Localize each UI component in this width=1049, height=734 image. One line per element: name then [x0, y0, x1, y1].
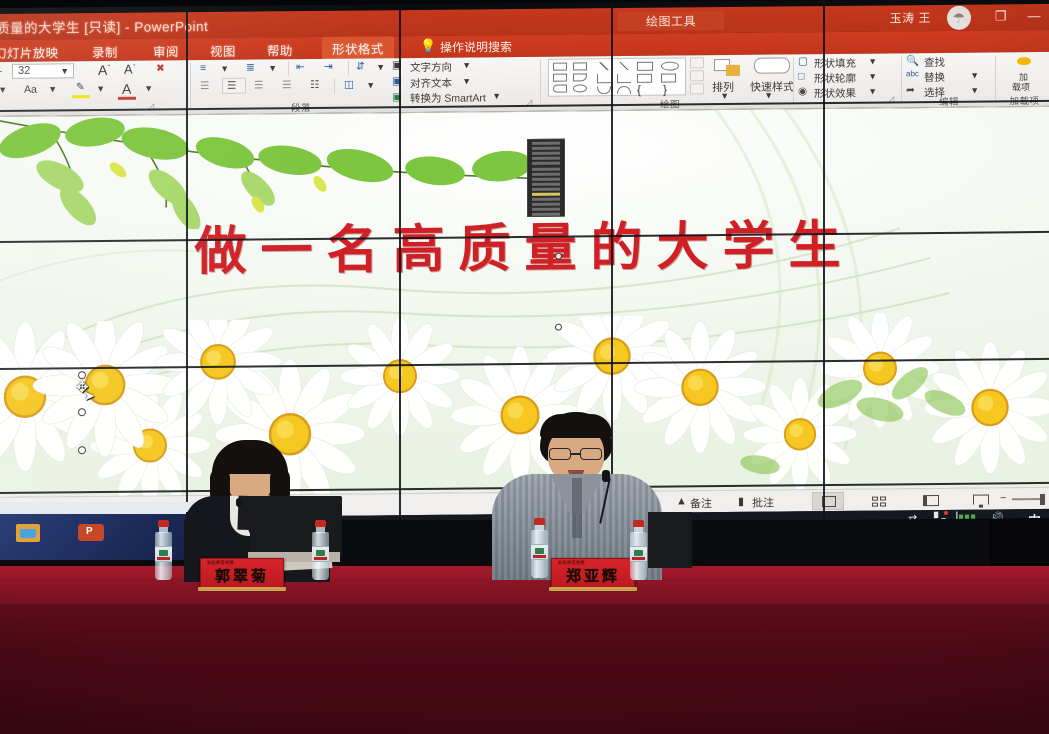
- glasses-lens-left: [549, 448, 571, 460]
- tab-record[interactable]: 录制: [92, 42, 118, 61]
- shapes-gallery-down-icon[interactable]: [690, 70, 704, 81]
- tab-review[interactable]: 审阅: [153, 41, 179, 60]
- contextual-tab-label: 绘图工具: [618, 11, 724, 31]
- selection-handle-right-top[interactable]: [555, 253, 562, 260]
- shape-effects-dropdown-icon[interactable]: ▾: [870, 86, 875, 98]
- nameplate-right-name: 郑亚辉: [552, 565, 634, 586]
- account-name[interactable]: 玉涛 王: [890, 9, 931, 26]
- tab-view[interactable]: 视图: [210, 41, 236, 60]
- clear-formatting-icon[interactable]: ✖: [156, 62, 165, 74]
- nameplate-left-stand: [198, 587, 286, 591]
- line-spacing-icon[interactable]: ⇵: [356, 60, 365, 72]
- character-spacing-dropdown-icon[interactable]: ▾: [0, 84, 5, 96]
- slideshow-button[interactable]: [964, 490, 996, 508]
- addins-icon[interactable]: [1017, 57, 1031, 65]
- document-title: 质量的大学生 [只读] - PowerPoint: [0, 15, 208, 37]
- font-color-dropdown-icon[interactable]: ▾: [146, 83, 151, 95]
- addins-button-label-2[interactable]: 载项: [1012, 80, 1030, 93]
- text-direction-label[interactable]: 文字方向: [410, 60, 452, 75]
- ribbon-mini-separator: [288, 61, 289, 76]
- font-size-dropdown-icon[interactable]: ▾: [62, 65, 67, 77]
- microphone-head: [602, 470, 610, 482]
- bottle-cap: [534, 518, 545, 525]
- nameplate-left: 安阳师范学院 郭翠菊: [200, 558, 284, 588]
- ribbon-body: − 32 ▾ A˙ A˙ ✖ AV ▾ Aa ▾ ✎ ▾ A ▾: [0, 52, 1049, 117]
- mouse-pointer-icon: ➤: [84, 388, 95, 404]
- nameplate-left-org: 安阳师范学院: [207, 560, 234, 566]
- comments-icon[interactable]: ▮: [738, 495, 744, 508]
- selection-handle-bottom[interactable]: [78, 446, 86, 454]
- lecture-hall-scene: 质量的大学生 [只读] - PowerPoint 绘图工具 玉涛 王 ☂ ❐ —…: [0, 0, 1049, 734]
- videowall-bezel: [399, 4, 401, 524]
- numbering-dropdown-icon[interactable]: ▾: [270, 62, 275, 74]
- shape-effects-icon[interactable]: ◉: [798, 85, 807, 97]
- bullet-list-icon[interactable]: ≡: [200, 62, 206, 74]
- columns-dropdown-icon[interactable]: ▾: [368, 79, 373, 91]
- line-spacing-dropdown-icon[interactable]: ▾: [378, 61, 383, 73]
- font-color-icon[interactable]: A: [122, 81, 131, 97]
- nameplate-left-name: 郭翠菊: [201, 565, 283, 586]
- change-case-dropdown-icon[interactable]: ▾: [50, 83, 55, 95]
- microphone-head: [236, 498, 242, 507]
- nameplate-right-stand: [549, 587, 637, 591]
- slide-title[interactable]: 做一名高质量的大学生: [0, 201, 1049, 286]
- water-bottle-right-1: [531, 518, 548, 580]
- search-icon[interactable]: 🔍: [906, 54, 919, 67]
- selection-handle-right-bottom[interactable]: [555, 324, 562, 331]
- shape-outline-icon[interactable]: □: [798, 70, 804, 82]
- reading-view-button[interactable]: [914, 491, 946, 509]
- minimize-window-button[interactable]: —: [1028, 8, 1042, 23]
- find-label[interactable]: 查找: [924, 55, 945, 70]
- slideshow-icon: [973, 495, 989, 505]
- replace-label[interactable]: 替换: [924, 70, 945, 85]
- notes-label[interactable]: 备注: [690, 495, 712, 511]
- tell-me-lightbulb-icon: 💡: [420, 38, 436, 54]
- columns-icon[interactable]: ◫: [344, 79, 354, 91]
- numbered-list-icon[interactable]: ≣: [246, 62, 255, 74]
- shape-fill-icon[interactable]: ▢: [798, 55, 808, 67]
- bottle-cap: [315, 520, 326, 527]
- highlight-color-bar: [72, 95, 90, 98]
- shape-effects-label[interactable]: 形状效果: [814, 86, 856, 101]
- tab-help[interactable]: 帮助: [267, 40, 293, 59]
- arrange-icon-2: [726, 65, 740, 76]
- shrink-font-icon[interactable]: A˙: [124, 62, 137, 77]
- font-size-value: 32: [18, 65, 30, 77]
- shapes-gallery-more-icon[interactable]: [690, 83, 704, 94]
- bullets-dropdown-icon[interactable]: ▾: [222, 63, 227, 75]
- font-size-decrease-icon[interactable]: −: [0, 66, 2, 78]
- bottle-label: [155, 546, 172, 562]
- nameplate-right-org: 安阳师范学院: [558, 560, 585, 566]
- shape-outline-label[interactable]: 形状轮廓: [814, 71, 856, 86]
- bottle-label: [630, 546, 647, 562]
- distribute-icon[interactable]: ☷: [310, 79, 319, 91]
- align-left-icon[interactable]: ☰: [200, 80, 209, 92]
- tab-shape-format[interactable]: 形状格式: [322, 36, 394, 60]
- text-direction-dropdown-icon[interactable]: ▾: [464, 59, 469, 71]
- grow-font-icon[interactable]: A˙: [98, 62, 112, 78]
- conference-table: [0, 578, 1049, 734]
- replace-abc-icon[interactable]: abc: [906, 69, 919, 78]
- shirt-placket: [572, 478, 582, 538]
- bottle-cap: [633, 520, 644, 527]
- align-center-icon[interactable]: ☰: [227, 80, 236, 92]
- bottle-label: [531, 544, 548, 560]
- convert-smartart-dropdown-icon[interactable]: ▾: [494, 90, 499, 102]
- notes-icon[interactable]: ▲: [676, 495, 687, 507]
- user-avatar-icon[interactable]: ☂: [947, 6, 971, 30]
- tell-me-search-input[interactable]: 操作说明搜索: [440, 38, 512, 56]
- reading-view-icon: [923, 495, 939, 506]
- tab-slideshow[interactable]: 幻灯片放映: [0, 42, 59, 62]
- shape-fill-label[interactable]: 形状填充: [814, 56, 856, 71]
- replace-dropdown-icon[interactable]: ▾: [972, 70, 977, 82]
- text-highlight-icon[interactable]: ✎: [76, 81, 85, 93]
- quick-styles-label[interactable]: 快速样式: [750, 78, 794, 94]
- hair-top: [540, 414, 612, 438]
- monitor-top-band: [0, 502, 200, 514]
- ribbon-separator-4: [901, 56, 902, 102]
- notification-badge: [944, 511, 948, 515]
- decrease-indent-icon[interactable]: ⇤: [296, 61, 305, 73]
- slide-sorter-icon: [880, 502, 886, 506]
- nameplate-right: 安阳师范学院 郑亚辉: [551, 558, 635, 588]
- bottle-cap: [158, 520, 169, 527]
- increase-indent-icon[interactable]: ⇥: [324, 61, 333, 73]
- slide-sorter-button[interactable]: [862, 491, 894, 509]
- zoom-slider-knob[interactable]: [1040, 494, 1045, 505]
- bottle-label: [312, 546, 329, 562]
- glasses-bridge: [571, 453, 580, 455]
- comments-label[interactable]: 批注: [752, 495, 774, 511]
- ribbon-separator-5: [995, 55, 996, 101]
- ribbon-mini-separator-2: [348, 61, 349, 76]
- justify-icon[interactable]: ☰: [282, 79, 291, 91]
- ribbon-separator-3: [793, 57, 794, 103]
- font-color-bar: [118, 97, 136, 100]
- highlight-dropdown-icon[interactable]: ▾: [98, 83, 103, 95]
- videowall-bezel: [823, 0, 825, 520]
- shape-outline-dropdown-icon[interactable]: ▾: [870, 71, 875, 83]
- align-text-label[interactable]: 对齐文本: [410, 76, 452, 91]
- table-front-drape: [0, 604, 1049, 734]
- selection-handle-middle[interactable]: [78, 408, 86, 416]
- dark-equipment-box: [648, 512, 692, 568]
- shapes-gallery-icon[interactable]: { }: [548, 57, 686, 96]
- restore-window-button[interactable]: ❐: [995, 8, 1007, 24]
- change-case-icon[interactable]: Aa: [24, 84, 37, 96]
- water-bottle-left-1: [155, 520, 172, 582]
- normal-view-button[interactable]: [812, 492, 844, 510]
- shapes-gallery-up-icon[interactable]: [690, 57, 704, 68]
- zoom-out-button[interactable]: −: [1000, 492, 1006, 504]
- water-bottle-right-2: [630, 520, 647, 582]
- folder-icon-inner: [20, 529, 36, 538]
- quick-styles-icon: [754, 57, 790, 73]
- shape-fill-dropdown-icon[interactable]: ▾: [870, 56, 875, 68]
- powerpoint-desktop-icon-letter: P: [86, 526, 93, 537]
- align-text-dropdown-icon[interactable]: ▾: [464, 75, 469, 87]
- align-right-icon[interactable]: ☰: [254, 79, 263, 91]
- water-bottle-left-2: [312, 520, 329, 582]
- ribbon-mini-separator-3: [334, 79, 335, 94]
- glasses-lens-right: [580, 448, 602, 460]
- ribbon-separator-2: [540, 60, 541, 106]
